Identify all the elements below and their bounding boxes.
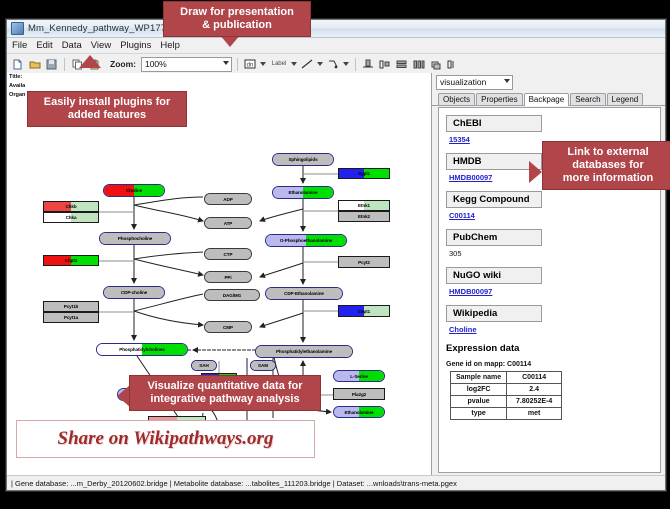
node-label: Chkb bbox=[65, 204, 76, 209]
backpage-value: 305 bbox=[446, 246, 660, 263]
menubar[interactable]: File Edit Data View Plugins Help bbox=[7, 38, 665, 54]
node-label: Sphingolipids bbox=[288, 157, 317, 162]
main-body: Title: Availa Organ bbox=[7, 73, 665, 475]
node-label: Pcyt2 bbox=[358, 260, 370, 265]
metabolite-node[interactable]: L-Serine bbox=[333, 370, 385, 382]
table-row: typemet bbox=[451, 408, 562, 420]
gene-node[interactable]: Pla2g2 bbox=[333, 388, 385, 400]
callout-link: Link to external databases for more info… bbox=[542, 141, 670, 190]
tab-search[interactable]: Search bbox=[570, 93, 605, 105]
tab-backpage[interactable]: Backpage bbox=[524, 93, 570, 106]
callout-plugins: Easily install plugins for added feature… bbox=[27, 91, 187, 127]
metabolite-node[interactable]: Choline bbox=[103, 184, 165, 197]
node-label: CDP-choline bbox=[121, 290, 147, 295]
node-label: O-Phosphoethanolamine bbox=[280, 238, 332, 243]
gene-node[interactable]: Pcyt1a bbox=[43, 312, 99, 323]
label-icon[interactable]: Label bbox=[269, 57, 289, 72]
toolbar-separator bbox=[64, 58, 65, 71]
backpage-header: ChEBI bbox=[446, 115, 542, 132]
node-label: Phosphatidylcholines bbox=[119, 347, 164, 352]
gene-node[interactable]: Chpt1 bbox=[43, 255, 99, 266]
node-label: SAM bbox=[258, 363, 268, 368]
gene-node[interactable]: Chka bbox=[43, 212, 99, 223]
toolbar-separator-3 bbox=[355, 58, 356, 71]
metabolite-node[interactable]: SAM bbox=[250, 360, 276, 371]
menu-plugins[interactable]: Plugins bbox=[120, 40, 151, 51]
node-label: Etnk1 bbox=[358, 203, 370, 208]
backpage-section-kegg-compound: Kegg CompoundC00114 bbox=[446, 189, 660, 225]
share-banner-text: Share on Wikipathways.org bbox=[58, 428, 274, 450]
tab-properties[interactable]: Properties bbox=[476, 93, 522, 105]
node-label: Ethanolamine bbox=[289, 190, 318, 195]
chevron-down-icon bbox=[504, 79, 510, 83]
gene-node[interactable]: Cept1 bbox=[338, 305, 390, 317]
gene-id-line: Gene id on mapp: C00114 bbox=[446, 361, 660, 368]
label-dropdown[interactable] bbox=[291, 58, 298, 71]
gene-node[interactable]: Etnk2 bbox=[338, 211, 390, 222]
metabolite-node[interactable]: SAH bbox=[191, 360, 217, 371]
expression-table: Sample nameC00114log2FC2.4pvalue7.80252E… bbox=[450, 371, 562, 420]
table-row: pvalue7.80252E-4 bbox=[451, 396, 562, 408]
pathvisio-icon bbox=[11, 22, 24, 35]
cofactor-node[interactable]: DAG/MG bbox=[204, 289, 260, 301]
datanode-dropdown[interactable] bbox=[260, 58, 267, 71]
table-row: log2FC2.4 bbox=[451, 384, 562, 396]
backpage-header: HMDB bbox=[446, 153, 542, 170]
gene-node[interactable]: Chkb bbox=[43, 201, 99, 212]
node-label: PPi bbox=[224, 275, 231, 280]
open-folder-icon[interactable] bbox=[27, 57, 42, 72]
node-label: Chpt1 bbox=[65, 258, 78, 263]
toolbar: Zoom: 100% dn Label bbox=[7, 54, 665, 75]
svg-text:dn: dn bbox=[247, 63, 254, 69]
backpage-section-pubchem: PubChem305 bbox=[446, 227, 660, 263]
node-label: Pcyt1b bbox=[64, 304, 78, 309]
chevron-down-icon bbox=[223, 61, 229, 65]
node-label: Pcyt1a bbox=[64, 315, 78, 320]
cofactor-node[interactable]: ATP bbox=[204, 217, 252, 229]
tab-legend[interactable]: Legend bbox=[607, 93, 644, 105]
node-label: Chka bbox=[66, 215, 77, 220]
callout-link-line3: more information bbox=[563, 172, 653, 184]
node-label: SAH bbox=[199, 363, 208, 368]
backpage-header: NuGO wiki bbox=[446, 267, 542, 284]
callout-plugins-line1: Easily install plugins for bbox=[44, 96, 171, 108]
metabolite-node[interactable]: Phosphocholine bbox=[99, 232, 171, 245]
line-icon[interactable] bbox=[300, 57, 315, 72]
gene-node[interactable]: Sgpl1 bbox=[338, 168, 390, 179]
callout-visualize-line1: Visualize quantitative data for bbox=[147, 380, 302, 392]
cofactor-node[interactable]: PPi bbox=[204, 271, 252, 283]
callout-visualize-line2: integrative pathway analysis bbox=[150, 393, 299, 405]
metabolite-node[interactable]: Sphingolipids bbox=[272, 153, 334, 166]
cofactor-node[interactable]: CMP bbox=[204, 321, 252, 333]
node-label: Ethanolamine bbox=[345, 410, 374, 415]
align-icon[interactable] bbox=[361, 57, 376, 72]
backpage-section-nugo-wiki: NuGO wikiHMDB00097 bbox=[446, 265, 660, 301]
backpage-section-wikipedia: WikipediaCholine bbox=[446, 303, 660, 339]
expression-data-header: Expression data bbox=[446, 343, 660, 354]
cofactor-node[interactable]: CTP bbox=[204, 248, 252, 260]
zoom-combo[interactable]: 100% bbox=[141, 57, 232, 72]
metabolite-node[interactable]: Ethanolamine bbox=[272, 186, 334, 199]
metabolite-node[interactable]: Ethanolamine bbox=[333, 406, 385, 418]
metabolite-node[interactable]: Phosphatidylethanolamine bbox=[255, 345, 353, 358]
statusbar: | Gene database: ...m_Derby_20120602.bri… bbox=[7, 475, 665, 490]
table-cell-value: 7.80252E-4 bbox=[507, 396, 562, 408]
callout-link-line1: Link to external bbox=[567, 146, 648, 158]
sidebar: visualization Objects Properties Backpag… bbox=[432, 73, 665, 475]
metabolite-node[interactable]: Phosphatidylcholines bbox=[96, 343, 188, 356]
menu-view[interactable]: View bbox=[91, 40, 111, 51]
visualization-value: visualization bbox=[440, 77, 486, 87]
anchor-icon[interactable] bbox=[326, 57, 341, 72]
menu-file[interactable]: File bbox=[12, 40, 27, 51]
layout-icon[interactable] bbox=[446, 57, 461, 72]
zoom-label: Zoom: bbox=[110, 59, 136, 69]
save-icon[interactable] bbox=[44, 57, 59, 72]
menu-data[interactable]: Data bbox=[62, 40, 82, 51]
datanode-icon[interactable]: dn bbox=[243, 57, 258, 72]
table-row: Sample nameC00114 bbox=[451, 372, 562, 384]
cofactor-node[interactable]: ADP bbox=[204, 193, 252, 205]
node-label: CMP bbox=[223, 325, 233, 330]
group-icon[interactable] bbox=[378, 57, 393, 72]
gene-node[interactable]: Etnk1 bbox=[338, 200, 390, 211]
sidebar-tabs[interactable]: Objects Properties Backpage Search Legen… bbox=[432, 91, 665, 106]
table-cell-key: type bbox=[451, 408, 507, 420]
node-label: Sgpl1 bbox=[358, 171, 370, 176]
node-label: Phosphocholine bbox=[118, 236, 152, 241]
metabolite-node[interactable]: O-Phosphoethanolamine bbox=[265, 234, 347, 247]
node-label: Cept1 bbox=[358, 309, 370, 314]
table-cell-key: pvalue bbox=[451, 396, 507, 408]
menu-edit[interactable]: Edit bbox=[36, 40, 52, 51]
tab-objects[interactable]: Objects bbox=[438, 93, 475, 105]
visualization-combo[interactable]: visualization bbox=[436, 75, 513, 90]
table-cell-key: log2FC bbox=[451, 384, 507, 396]
backpage-header: Kegg Compound bbox=[446, 191, 542, 208]
callout-visualize: Visualize quantitative data for integrat… bbox=[129, 375, 321, 411]
gene-node[interactable]: Pcyt1b bbox=[43, 301, 99, 312]
stack-icon[interactable] bbox=[395, 57, 410, 72]
pathway-canvas[interactable]: Title: Availa Organ bbox=[7, 73, 432, 475]
statusbar-text: | Gene database: ...m_Derby_20120602.bri… bbox=[11, 479, 457, 488]
table-cell-value: met bbox=[507, 408, 562, 420]
table-cell-value: C00114 bbox=[507, 372, 562, 384]
window-titlebar: Mm_Kennedy_pathway_WP1771_45176.gpml bbox=[7, 20, 665, 38]
node-label: CDP-Ethanolamine bbox=[284, 291, 324, 296]
visualization-toolbar: visualization bbox=[432, 73, 665, 91]
callout-draw: Draw for presentation & publication bbox=[163, 1, 311, 37]
node-label: L-Serine bbox=[350, 374, 368, 379]
anchor-dropdown[interactable] bbox=[343, 58, 350, 71]
table-cell-value: 2.4 bbox=[507, 384, 562, 396]
backpage-link[interactable]: HMDB00097 bbox=[446, 284, 660, 301]
node-label: Pla2g2 bbox=[352, 392, 366, 397]
callout-link-line2: databases for bbox=[572, 159, 644, 171]
new-file-icon[interactable] bbox=[10, 57, 25, 72]
callout-draw-line1: Draw for presentation bbox=[180, 6, 294, 18]
node-label: ADP bbox=[223, 197, 232, 202]
share-banner: Share on Wikipathways.org bbox=[16, 420, 315, 458]
backpage-header: PubChem bbox=[446, 229, 542, 246]
menu-help[interactable]: Help bbox=[160, 40, 180, 51]
metabolite-node[interactable]: CDP-choline bbox=[103, 286, 165, 299]
node-label: DAG/MG bbox=[223, 293, 241, 298]
toolbar-separator-2 bbox=[237, 58, 238, 71]
callout-link-arrow bbox=[529, 161, 542, 183]
line-dropdown[interactable] bbox=[317, 58, 324, 71]
gene-node[interactable]: Pcyt2 bbox=[338, 256, 390, 268]
order-icon[interactable] bbox=[429, 57, 444, 72]
table-cell-key: Sample name bbox=[451, 372, 507, 384]
metabolite-node[interactable]: CDP-Ethanolamine bbox=[265, 287, 343, 300]
node-label: Phosphatidylethanolamine bbox=[276, 349, 332, 354]
distribute-icon[interactable] bbox=[412, 57, 427, 72]
callout-plugins-arrow bbox=[79, 55, 101, 68]
zoom-value: 100% bbox=[145, 59, 167, 69]
node-label: Choline bbox=[126, 188, 142, 193]
backpage-link[interactable]: Choline bbox=[446, 322, 660, 339]
callout-draw-line2: & publication bbox=[202, 19, 272, 31]
node-label: ATP bbox=[224, 221, 233, 226]
backpage-link[interactable]: C00114 bbox=[446, 208, 660, 225]
callout-plugins-line2: added features bbox=[68, 109, 146, 121]
node-label: CTP bbox=[224, 252, 233, 257]
backpage-header: Wikipedia bbox=[446, 305, 542, 322]
node-label: Etnk2 bbox=[358, 214, 370, 219]
